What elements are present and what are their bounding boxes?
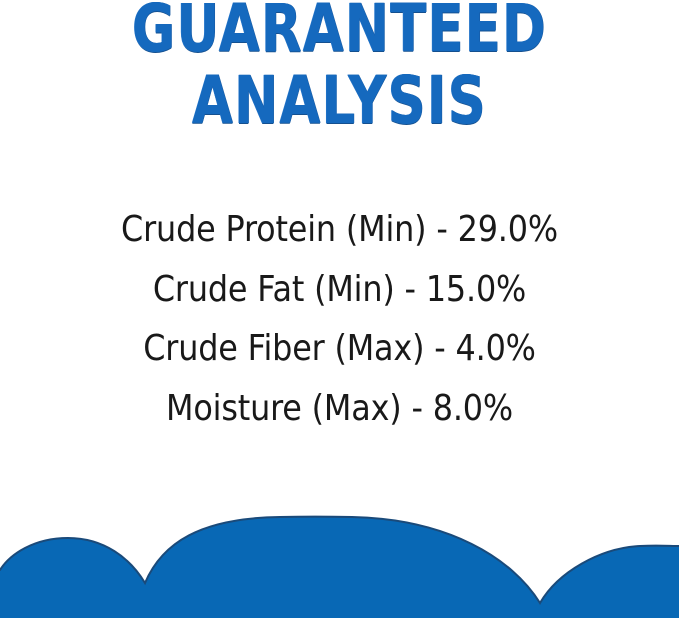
heading-line-analysis: ANALYSIS bbox=[68, 66, 611, 136]
guaranteed-analysis-panel: GUARANTEED ANALYSIS Crude Protein (Min) … bbox=[0, 0, 679, 618]
analysis-row-crude-protein: Crude Protein (Min) - 29.0% bbox=[39, 200, 640, 260]
scalloped-wave-icon bbox=[0, 488, 679, 618]
heading-line-guaranteed: GUARANTEED bbox=[68, 0, 611, 64]
analysis-list: Crude Protein (Min) - 29.0% Crude Fat (M… bbox=[0, 200, 679, 438]
analysis-row-crude-fiber: Crude Fiber (Max) - 4.0% bbox=[39, 319, 640, 379]
analysis-row-moisture: Moisture (Max) - 8.0% bbox=[39, 379, 640, 439]
analysis-row-crude-fat: Crude Fat (Min) - 15.0% bbox=[39, 260, 640, 320]
panel-heading: GUARANTEED ANALYSIS bbox=[0, 0, 679, 136]
bottom-wave-decoration bbox=[0, 488, 679, 618]
